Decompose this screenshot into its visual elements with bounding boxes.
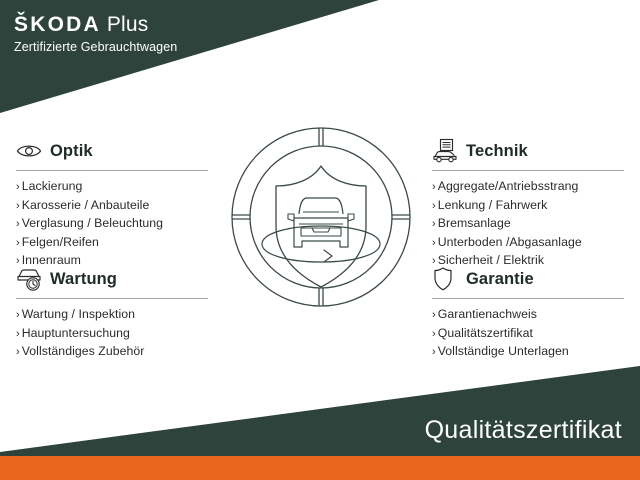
- section-optik-header: Optik: [16, 138, 212, 164]
- section-technik: Technik ›Aggregate/Antriebsstrang ›Lenku…: [432, 138, 628, 271]
- list-item: ›Aggregate/Antriebsstrang: [432, 178, 628, 197]
- list-item: ›Vollständiges Zubehör: [16, 343, 212, 362]
- chevron-right-icon: ›: [16, 218, 20, 230]
- section-garantie-title: Garantie: [466, 270, 534, 289]
- brand-name: ŠKODA: [14, 13, 101, 36]
- shield-icon: [432, 266, 462, 292]
- section-technik-divider: [432, 170, 624, 171]
- brand-logo: ŠKODAPlus Zertifizierte Gebrauchtwagen: [14, 13, 177, 55]
- list-item-label: Vollständige Unterlagen: [438, 344, 569, 358]
- chevron-right-icon: ›: [432, 181, 436, 193]
- eye-icon: [16, 138, 46, 164]
- list-item: ›Unterboden /Abgasanlage: [432, 234, 628, 253]
- list-item-label: Hauptuntersuchung: [22, 326, 130, 340]
- list-item: ›Lackierung: [16, 178, 212, 197]
- list-item: ›Verglasung / Beleuchtung: [16, 215, 212, 234]
- chevron-right-icon: ›: [432, 346, 436, 358]
- brand-tagline: Zertifizierte Gebrauchtwagen: [14, 39, 177, 55]
- list-item: ›Garantienachweis: [432, 306, 628, 325]
- list-item: ›Vollständige Unterlagen: [432, 343, 628, 362]
- section-garantie-items: ›Garantienachweis ›Qualitätszertifikat ›…: [432, 306, 628, 362]
- section-garantie: Garantie ›Garantienachweis ›Qualitätszer…: [432, 266, 628, 362]
- list-item: ›Felgen/Reifen: [16, 234, 212, 253]
- section-optik: Optik ›Lackierung ›Karosserie / Anbautei…: [16, 138, 212, 271]
- section-optik-title: Optik: [50, 142, 93, 161]
- list-item-label: Felgen/Reifen: [22, 235, 99, 249]
- chevron-right-icon: ›: [432, 237, 436, 249]
- list-item-label: Wartung / Inspektion: [22, 307, 135, 321]
- section-optik-divider: [16, 170, 208, 171]
- section-optik-items: ›Lackierung ›Karosserie / Anbauteile ›Ve…: [16, 178, 212, 271]
- brand-logo-line: ŠKODAPlus: [14, 13, 177, 37]
- chevron-right-icon: ›: [16, 309, 20, 321]
- list-item: ›Qualitätszertifikat: [432, 325, 628, 344]
- list-item-label: Aggregate/Antriebsstrang: [438, 179, 579, 193]
- list-item-label: Lenkung / Fahrwerk: [438, 198, 548, 212]
- list-item-label: Bremsanlage: [438, 216, 511, 230]
- list-item: ›Lenkung / Fahrwerk: [432, 197, 628, 216]
- chevron-right-icon: ›: [16, 346, 20, 358]
- chevron-right-icon: ›: [16, 237, 20, 249]
- car-clock-icon: [16, 266, 46, 292]
- section-wartung-divider: [16, 298, 208, 299]
- footer-title: Qualitätszertifikat: [425, 416, 622, 445]
- chevron-right-icon: ›: [16, 181, 20, 193]
- list-item-label: Garantienachweis: [438, 307, 537, 321]
- bottom-orange-bar: [0, 456, 640, 480]
- list-item-label: Qualitätszertifikat: [438, 326, 533, 340]
- brand-suffix: Plus: [107, 13, 149, 36]
- section-garantie-divider: [432, 298, 624, 299]
- certificate-page: ŠKODAPlus Zertifizierte Gebrauchtwagen O…: [0, 0, 640, 480]
- section-wartung-items: ›Wartung / Inspektion ›Hauptuntersuchung…: [16, 306, 212, 362]
- list-item-label: Unterboden /Abgasanlage: [438, 235, 582, 249]
- chevron-right-icon: ›: [432, 328, 436, 340]
- list-item-label: Karosserie / Anbauteile: [22, 198, 150, 212]
- section-wartung: Wartung ›Wartung / Inspektion ›Hauptunte…: [16, 266, 212, 362]
- chevron-right-icon: ›: [432, 309, 436, 321]
- list-item-label: Sicherheit / Elektrik: [438, 253, 544, 267]
- section-wartung-title: Wartung: [50, 270, 117, 289]
- list-item-label: Lackierung: [22, 179, 83, 193]
- list-item-label: Verglasung / Beleuchtung: [22, 216, 163, 230]
- chevron-right-icon: ›: [432, 200, 436, 212]
- list-item: ›Hauptuntersuchung: [16, 325, 212, 344]
- section-technik-header: Technik: [432, 138, 628, 164]
- list-item-label: Innenraum: [22, 253, 81, 267]
- car-document-icon: [432, 138, 462, 164]
- chevron-right-icon: ›: [432, 218, 436, 230]
- section-technik-items: ›Aggregate/Antriebsstrang ›Lenkung / Fah…: [432, 178, 628, 271]
- chevron-right-icon: ›: [16, 200, 20, 212]
- list-item: ›Wartung / Inspektion: [16, 306, 212, 325]
- section-wartung-header: Wartung: [16, 266, 212, 292]
- chevron-right-icon: ›: [16, 328, 20, 340]
- section-garantie-header: Garantie: [432, 266, 628, 292]
- shield-car-360-emblem: [228, 124, 414, 310]
- section-technik-title: Technik: [466, 142, 528, 161]
- list-item-label: Vollständiges Zubehör: [22, 344, 145, 358]
- list-item: ›Bremsanlage: [432, 215, 628, 234]
- list-item: ›Karosserie / Anbauteile: [16, 197, 212, 216]
